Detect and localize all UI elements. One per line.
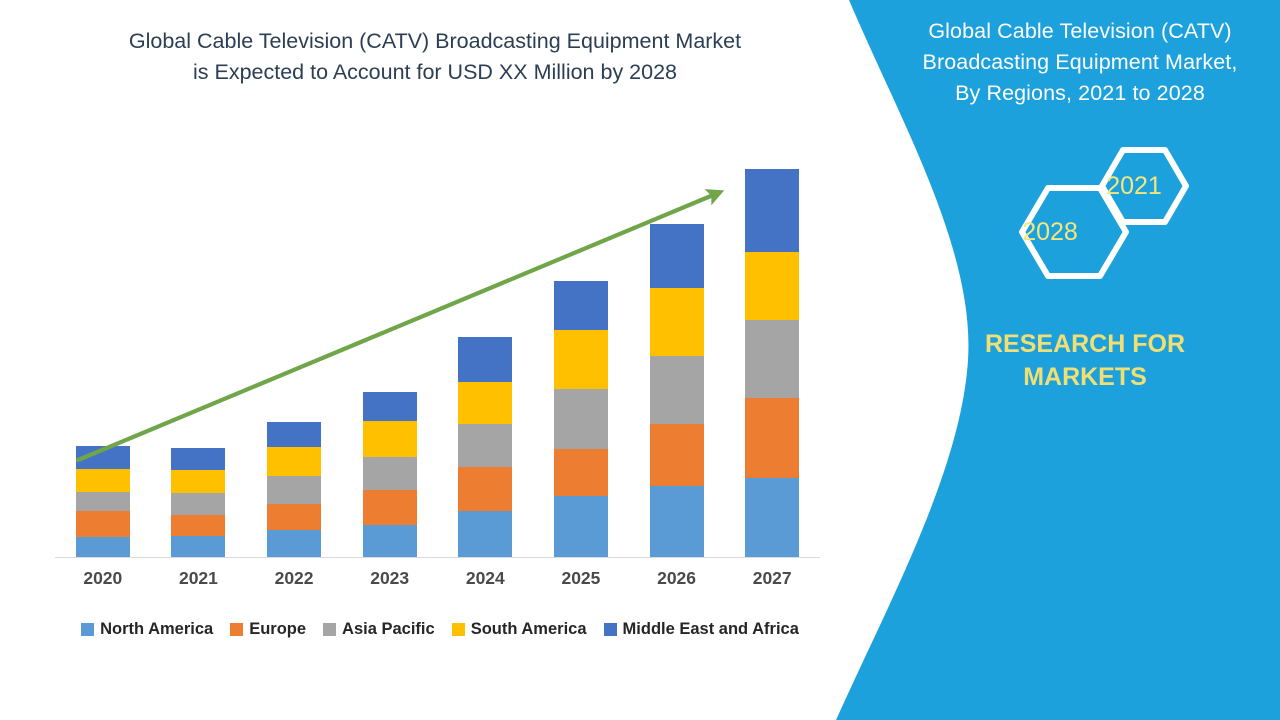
legend-item-south-america[interactable]: South America xyxy=(452,620,587,639)
bar-segment-2021-middle-east-and-africa[interactable] xyxy=(171,448,225,470)
bar-2025[interactable] xyxy=(554,281,608,558)
bar-segment-2026-south-america[interactable] xyxy=(650,288,704,356)
x-axis-tick-2022: 2022 xyxy=(249,568,339,589)
brand-wordmark: RESEARCH FOR MARKETS xyxy=(940,328,1230,394)
bar-2022[interactable] xyxy=(267,422,321,558)
legend-item-middle-east-and-africa[interactable]: Middle East and Africa xyxy=(604,620,799,639)
x-axis-tick-2026: 2026 xyxy=(632,568,722,589)
chart-legend: North AmericaEuropeAsia PacificSouth Ame… xyxy=(45,616,835,642)
legend-swatch-icon xyxy=(323,623,336,636)
bar-2021[interactable] xyxy=(171,448,225,558)
bar-2026[interactable] xyxy=(650,224,704,558)
hexagon-label-2028: 2028 xyxy=(1000,218,1100,247)
legend-item-asia-pacific[interactable]: Asia Pacific xyxy=(323,620,435,639)
hexagon-badge-group: 2021 2028 xyxy=(980,140,1280,300)
x-axis-tick-labels: 20202021202220232024202520262027 xyxy=(55,568,820,596)
x-axis-tick-2024: 2024 xyxy=(440,568,530,589)
bar-segment-2026-europe[interactable] xyxy=(650,424,704,486)
legend-swatch-icon xyxy=(230,623,243,636)
bar-segment-2025-north-america[interactable] xyxy=(554,496,608,558)
legend-swatch-icon xyxy=(452,623,465,636)
bar-segment-2025-south-america[interactable] xyxy=(554,330,608,389)
bar-segment-2027-europe[interactable] xyxy=(745,398,799,478)
bar-segment-2020-north-america[interactable] xyxy=(76,537,130,558)
bar-segment-2021-south-america[interactable] xyxy=(171,470,225,493)
brand-wordmark-line-1: RESEARCH FOR xyxy=(940,328,1230,361)
bar-segment-2021-europe[interactable] xyxy=(171,515,225,536)
x-axis-tick-2020: 2020 xyxy=(58,568,148,589)
legend-item-north-america[interactable]: North America xyxy=(81,620,213,639)
bar-segment-2023-north-america[interactable] xyxy=(363,525,417,558)
chart-baseline-axis xyxy=(55,557,820,558)
bar-segment-2027-middle-east-and-africa[interactable] xyxy=(745,169,799,252)
right-panel-content: Global Cable Television (CATV) Broadcast… xyxy=(880,0,1280,720)
legend-label: Europe xyxy=(249,620,306,639)
bar-segment-2023-middle-east-and-africa[interactable] xyxy=(363,392,417,421)
legend-label: North America xyxy=(100,620,213,639)
panel-title-line-1: Global Cable Television (CATV) xyxy=(890,16,1270,47)
infographic-canvas: Global Cable Television (CATV) Broadcast… xyxy=(0,0,1280,720)
bar-segment-2025-europe[interactable] xyxy=(554,449,608,497)
legend-label: Asia Pacific xyxy=(342,620,435,639)
x-axis-tick-2027: 2027 xyxy=(727,568,817,589)
x-axis-tick-2023: 2023 xyxy=(345,568,435,589)
legend-swatch-icon xyxy=(81,623,94,636)
bar-segment-2022-north-america[interactable] xyxy=(267,530,321,558)
panel-title: Global Cable Television (CATV) Broadcast… xyxy=(890,16,1270,109)
bar-segment-2022-asia-pacific[interactable] xyxy=(267,476,321,504)
bar-segment-2020-middle-east-and-africa[interactable] xyxy=(76,446,130,468)
bar-segment-2022-middle-east-and-africa[interactable] xyxy=(267,422,321,447)
bar-segment-2020-europe[interactable] xyxy=(76,511,130,537)
chart-title: Global Cable Television (CATV) Broadcast… xyxy=(40,26,830,88)
bar-segment-2026-north-america[interactable] xyxy=(650,486,704,558)
legend-label: South America xyxy=(471,620,587,639)
bar-segment-2024-south-america[interactable] xyxy=(458,382,512,424)
bar-segment-2026-asia-pacific[interactable] xyxy=(650,356,704,424)
chart-title-line-1: Global Cable Television (CATV) Broadcast… xyxy=(40,26,830,57)
bar-2027[interactable] xyxy=(745,169,799,558)
bar-segment-2023-south-america[interactable] xyxy=(363,421,417,457)
panel-title-line-2: Broadcasting Equipment Market, xyxy=(890,47,1270,78)
bar-segment-2020-asia-pacific[interactable] xyxy=(76,492,130,512)
bar-2023[interactable] xyxy=(363,392,417,558)
bar-segment-2024-north-america[interactable] xyxy=(458,511,512,558)
bar-segment-2024-asia-pacific[interactable] xyxy=(458,424,512,468)
bar-segment-2027-south-america[interactable] xyxy=(745,252,799,320)
x-axis-tick-2021: 2021 xyxy=(153,568,243,589)
bar-segment-2022-south-america[interactable] xyxy=(267,447,321,476)
bar-segment-2021-asia-pacific[interactable] xyxy=(171,493,225,515)
bar-segment-2027-north-america[interactable] xyxy=(745,478,799,558)
bar-segment-2023-europe[interactable] xyxy=(363,490,417,524)
chart-title-line-2: is Expected to Account for USD XX Millio… xyxy=(40,57,830,88)
bar-segment-2023-asia-pacific[interactable] xyxy=(363,457,417,490)
legend-label: Middle East and Africa xyxy=(623,620,799,639)
hexagon-label-2021: 2021 xyxy=(1088,172,1180,201)
legend-swatch-icon xyxy=(604,623,617,636)
bar-segment-2026-middle-east-and-africa[interactable] xyxy=(650,224,704,288)
bar-segment-2021-north-america[interactable] xyxy=(171,536,225,558)
chart-plot-area xyxy=(55,150,820,558)
bar-segment-2025-middle-east-and-africa[interactable] xyxy=(554,281,608,331)
bar-segment-2027-asia-pacific[interactable] xyxy=(745,320,799,398)
bar-2024[interactable] xyxy=(458,337,512,558)
bar-segment-2024-middle-east-and-africa[interactable] xyxy=(458,337,512,382)
brand-wordmark-line-2: MARKETS xyxy=(940,361,1230,394)
bar-segment-2020-south-america[interactable] xyxy=(76,469,130,492)
legend-item-europe[interactable]: Europe xyxy=(230,620,306,639)
bar-segment-2022-europe[interactable] xyxy=(267,504,321,530)
bar-2020[interactable] xyxy=(76,446,130,558)
bar-segment-2024-europe[interactable] xyxy=(458,467,512,511)
x-axis-tick-2025: 2025 xyxy=(536,568,626,589)
panel-title-line-3: By Regions, 2021 to 2028 xyxy=(890,78,1270,109)
bar-segment-2025-asia-pacific[interactable] xyxy=(554,389,608,448)
